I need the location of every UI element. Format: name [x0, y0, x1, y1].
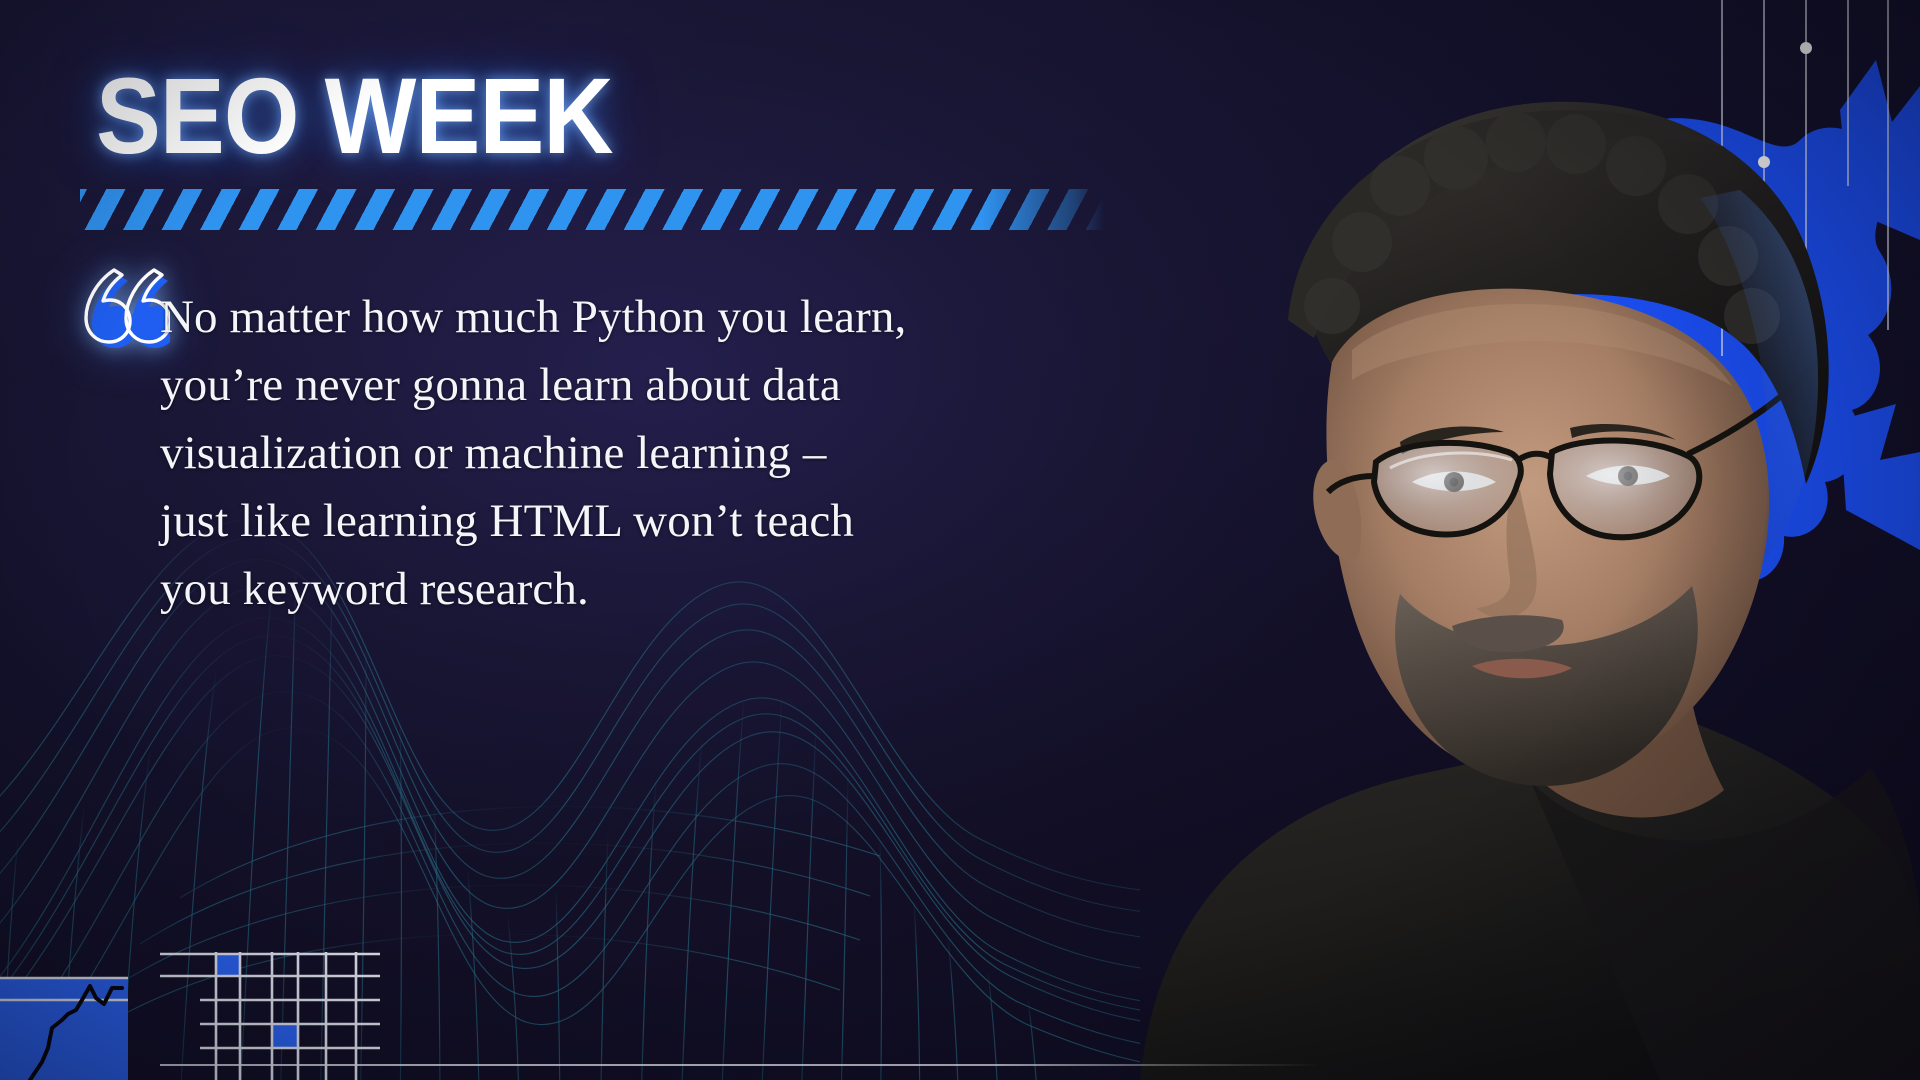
speaker-portrait: [1100, 0, 1920, 1080]
area-chart-decoration: [0, 970, 128, 1080]
hatch-divider-bar: [80, 189, 1105, 230]
vertical-guide-lines-with-dots: [1680, 0, 1920, 470]
open-quote-icon: [78, 258, 170, 350]
quote-line-4: just like learning HTML won’t teach: [160, 487, 970, 555]
quote-line-3: visualization or machine learning –: [160, 419, 970, 487]
quote-card: SEO WEEK No matter how much Python you l…: [0, 0, 1920, 1080]
page-title: SEO WEEK: [96, 62, 613, 170]
quote-line-2: you’re never gonna learn about data: [160, 351, 970, 419]
quote-line-5: you keyword research.: [160, 555, 970, 623]
quote-line-1: No matter how much Python you learn,: [160, 283, 970, 351]
grid-decoration: [160, 952, 380, 1080]
quote-text: No matter how much Python you learn, you…: [160, 283, 970, 623]
blue-paint-splash: [1280, 0, 1920, 670]
